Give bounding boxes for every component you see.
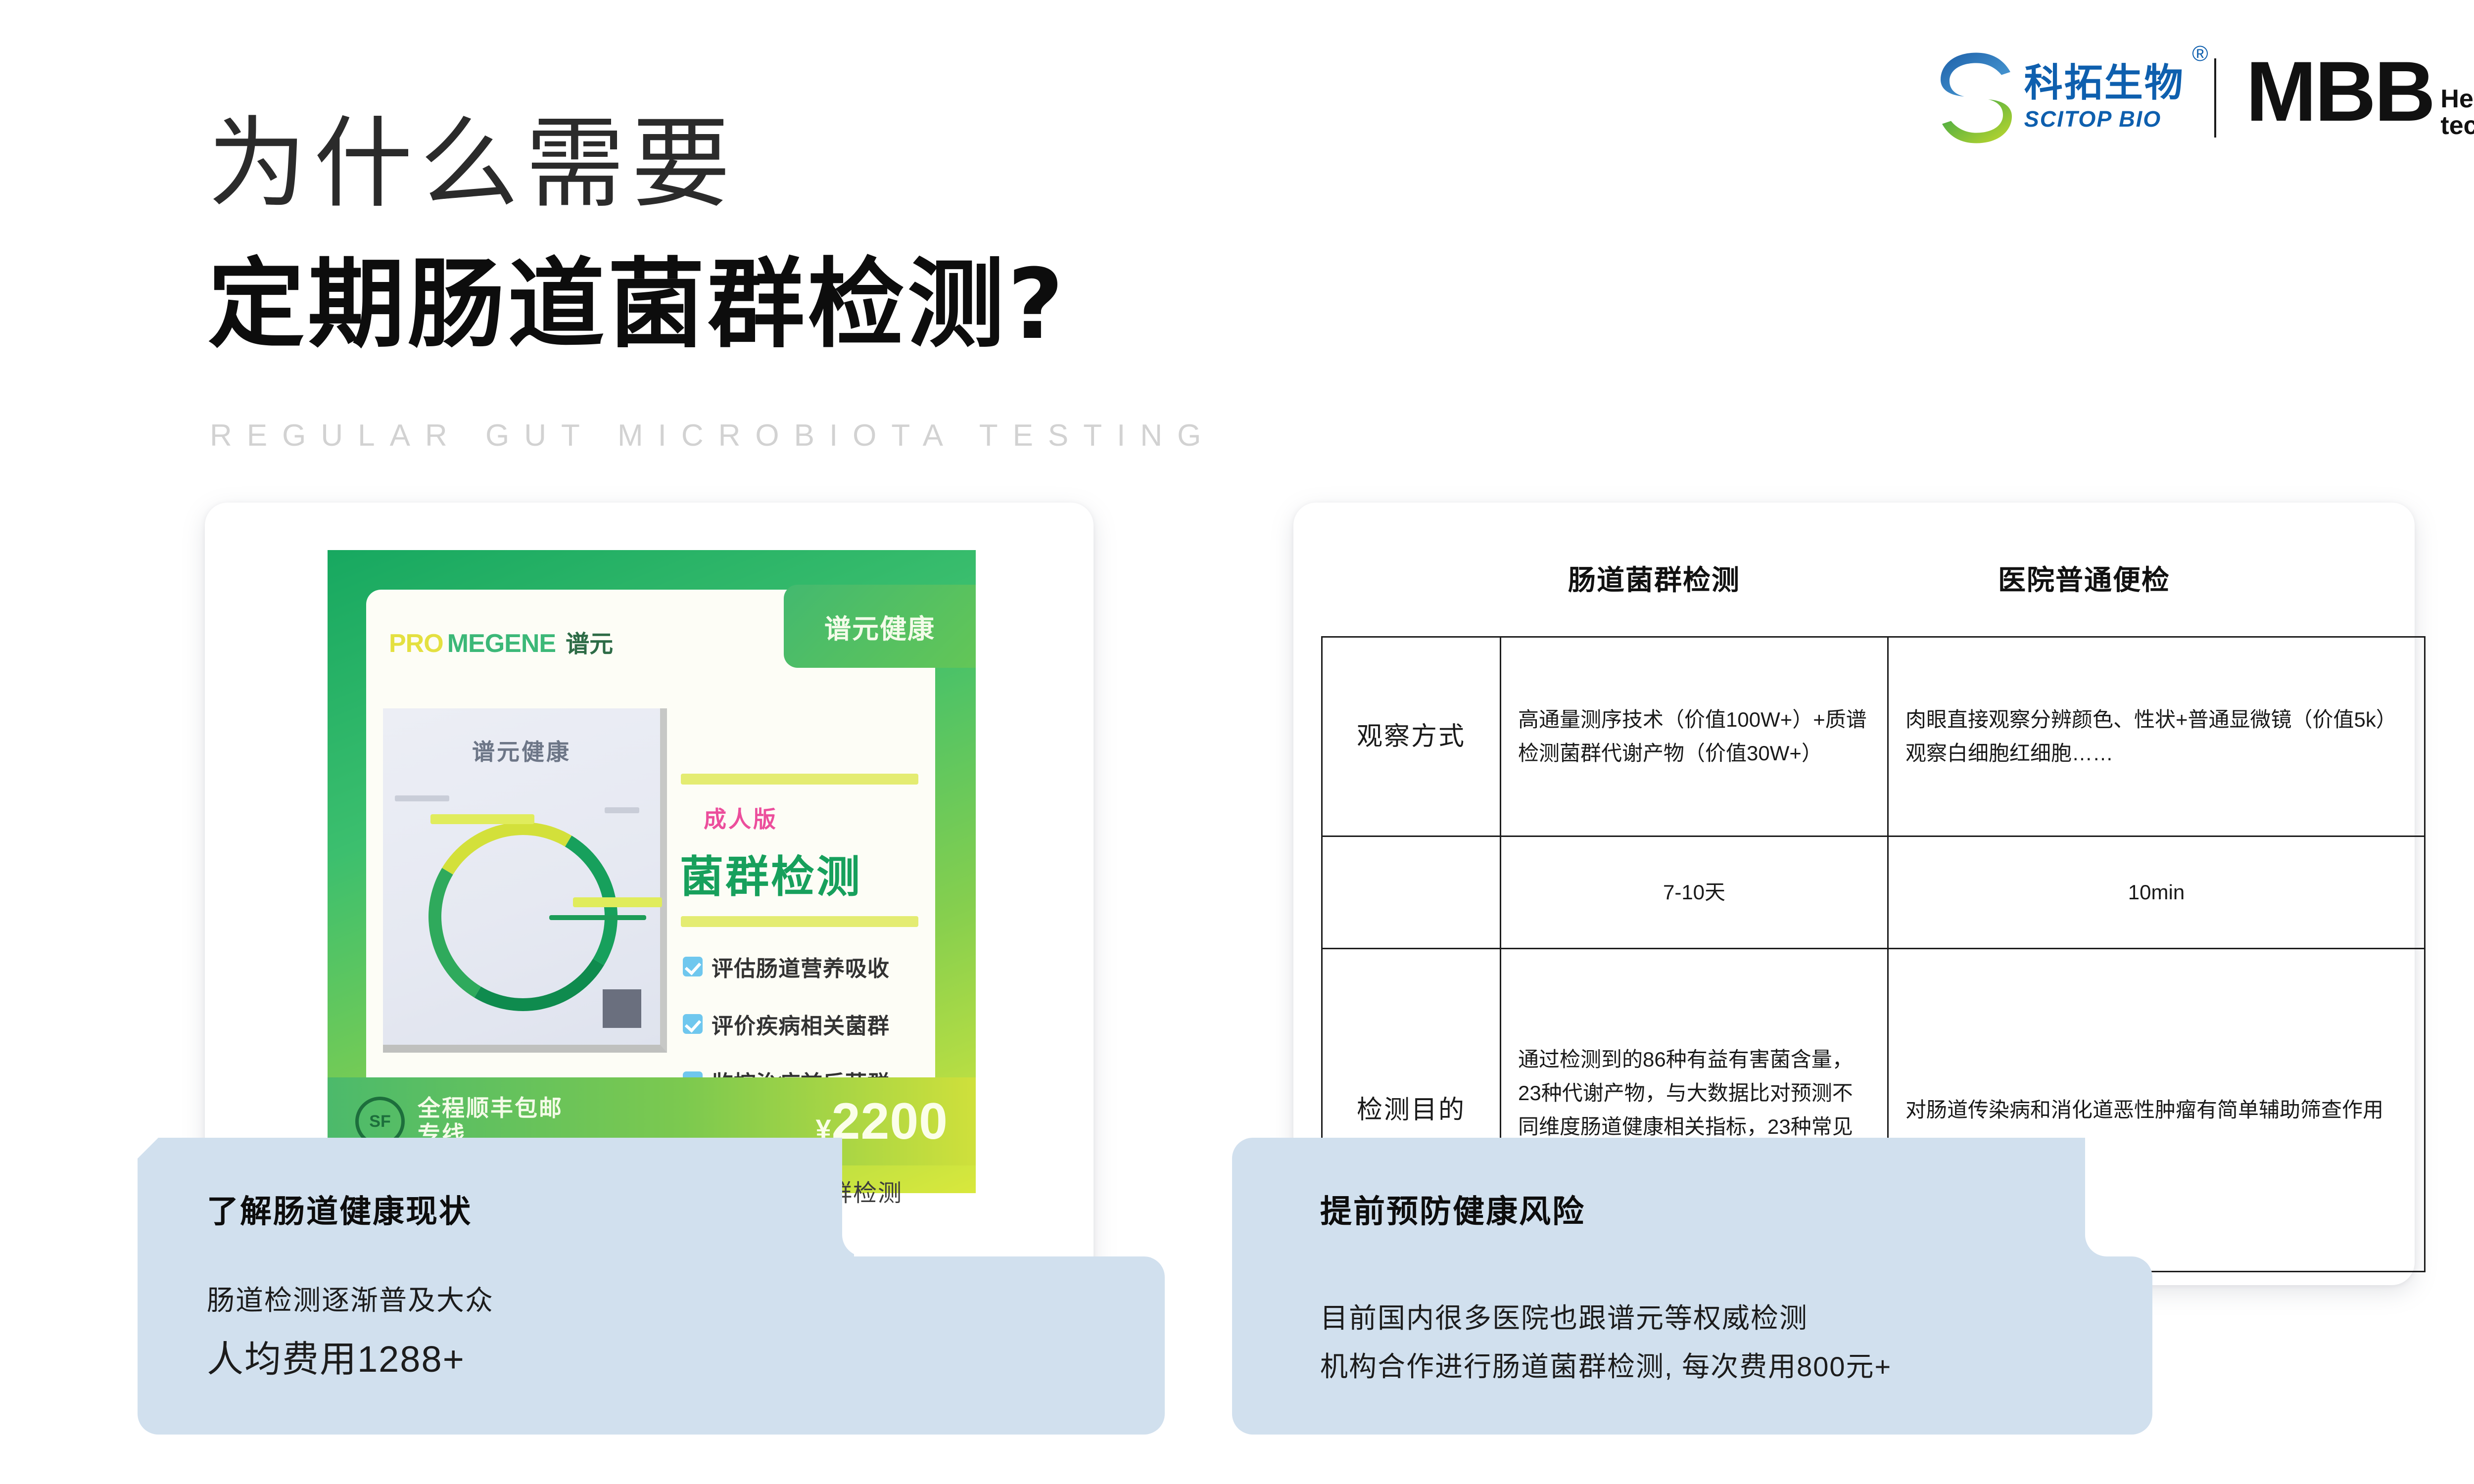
info-card-right-line1: 目前国内很多医院也跟谱元等权威检测 <box>1320 1296 1808 1336</box>
brand-megene-text: MEGENE <box>447 629 556 658</box>
cell-observation-hospital: 肉眼直接观察分辨颜色、性状+普通显微镜（价值5k）观察白细胞红细胞…… <box>1888 637 2425 836</box>
slide-root: 科拓生物 SCITOP BIO ® MBB Health tech TM 为什么… <box>0 0 2474 1484</box>
brand-cn-text: 谱元 <box>566 624 613 659</box>
mbb-line-tech: tech <box>2440 112 2474 139</box>
cell-duration-hospital: 10min <box>1888 836 2425 949</box>
poster-accent-bar-bottom <box>681 916 918 927</box>
shipping-line-1: 全程顺丰包邮 <box>418 1095 563 1121</box>
feature-label: 评价疾病相关菌群 <box>712 1008 890 1040</box>
brand-pro-text: PRO <box>389 629 443 658</box>
kit-decoration-label-1 <box>395 795 449 801</box>
adult-version-badge: 成人版 <box>704 801 778 834</box>
poster-tag-label: 谱元健康 <box>824 607 935 646</box>
info-card-left-line1: 肠道检测逐渐普及大众 <box>207 1278 494 1318</box>
product-poster-image: PRO MEGENE 谱元 谱元健康 谱元健康 成人版 菌群检测 <box>328 550 976 1193</box>
kit-box-photo: 谱元健康 <box>383 708 667 1053</box>
poster-corner-tag: 谱元健康 <box>784 585 976 668</box>
table-row: 7-10天 10min <box>1322 836 2425 949</box>
table-header-gut-test: 肠道菌群检测 <box>1476 558 1832 598</box>
feature-label: 评估肠道营养吸收 <box>712 951 890 982</box>
qr-code-icon <box>603 989 641 1028</box>
scitop-swirl-icon <box>1939 49 2013 146</box>
mbb-subtitle: Health tech <box>2440 86 2474 139</box>
promegene-brand: PRO MEGENE 谱元 <box>389 624 613 659</box>
info-card-left-line2: 人均费用1288+ <box>207 1330 465 1383</box>
cell-duration-gut: 7-10天 <box>1501 836 1888 949</box>
mbb-logo: MBB Health tech TM <box>2246 57 2474 139</box>
table-header-hospital-test: 医院普通便检 <box>1832 558 2336 598</box>
ring-bar-2 <box>573 897 662 907</box>
row-label-observation: 观察方式 <box>1322 637 1501 836</box>
check-icon <box>683 957 703 976</box>
info-card-right-line2: 机构合作进行肠道菌群检测, 每次费用800元+ <box>1320 1345 1892 1385</box>
page-title-bold: 定期肠道菌群检测? <box>208 256 1067 353</box>
ring-bar-3 <box>549 915 646 920</box>
table-header-blank <box>1293 558 1476 598</box>
cell-observation-gut: 高通量测序技术（价值100W+）+质谱检测菌群代谢产物（价值30W+） <box>1501 637 1888 836</box>
row-label-duration <box>1322 836 1501 949</box>
scitop-logo: 科拓生物 SCITOP BIO ® <box>1939 49 2185 146</box>
ring-bar-1 <box>430 814 534 824</box>
list-item: 评估肠道营养吸收 <box>683 951 890 982</box>
kit-title-label: 菌群检测 <box>680 842 862 905</box>
registered-trademark-icon: ® <box>2192 42 2208 66</box>
poster-feature-list: 评估肠道营养吸收 评价疾病相关菌群 监控治疗前后菌群 <box>683 951 890 1097</box>
page-title-thin: 为什么需要 <box>208 115 737 214</box>
info-card-right-shape <box>1232 1138 2152 1435</box>
scitop-wordmark: 科拓生物 SCITOP BIO <box>2024 64 2185 132</box>
check-icon <box>683 1014 703 1034</box>
table-header-row: 肠道菌群检测 医院普通便检 <box>1293 558 2415 598</box>
logo-bar: 科拓生物 SCITOP BIO ® MBB Health tech TM <box>1939 49 2474 146</box>
mbb-line-health: Health <box>2440 86 2474 112</box>
info-card-left-title: 了解肠道健康现状 <box>207 1186 472 1232</box>
logo-divider <box>2214 58 2216 138</box>
info-card-right <box>1232 1138 2152 1435</box>
kit-decoration-label-2 <box>605 807 639 813</box>
page-subtitle-english: REGULAR GUT MICROBIOTA TESTING <box>210 418 1216 453</box>
table-row: 观察方式 高通量测序技术（价值100W+）+质谱检测菌群代谢产物（价值30W+）… <box>1322 637 2425 836</box>
mbb-wordmark: MBB <box>2246 57 2434 127</box>
info-card-right-title: 提前预防健康风险 <box>1320 1186 1585 1232</box>
poster-accent-bar-top <box>681 774 918 785</box>
scitop-cn-name: 科拓生物 <box>2024 64 2185 103</box>
scitop-en-name: SCITOP BIO <box>2024 106 2162 132</box>
kit-box-brand-label: 谱元健康 <box>383 734 660 767</box>
list-item: 评价疾病相关菌群 <box>683 1008 890 1040</box>
